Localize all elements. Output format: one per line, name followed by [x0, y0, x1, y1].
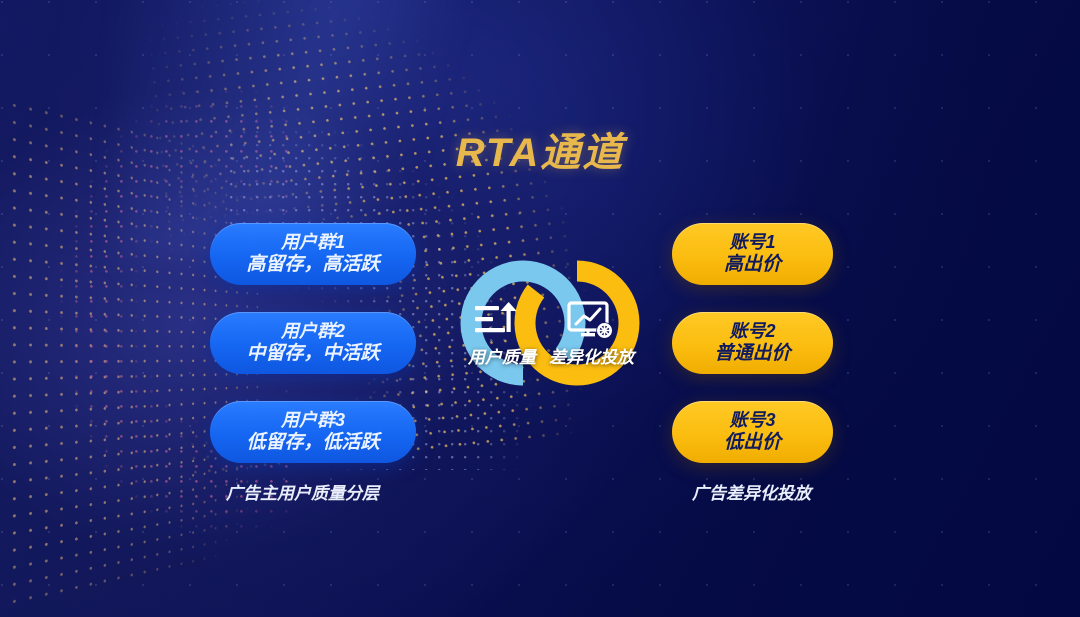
user-segment-pill-1[interactable]: 用户群1 高留存，高活跃 — [210, 223, 416, 285]
account-pill-2[interactable]: 账号2 普通出价 — [672, 312, 833, 374]
right-column-caption: 广告差异化投放 — [692, 479, 811, 504]
user-segment-pill-3-line2: 低留存，低活跃 — [246, 431, 379, 455]
user-segment-pill-1-line1: 用户群1 — [281, 231, 345, 254]
user-segment-pill-1-line2: 高留存，高活跃 — [246, 253, 379, 277]
monitor-chart-icon — [567, 300, 617, 342]
account-pill-1-line1: 账号1 — [729, 231, 775, 254]
slide-canvas: RTA通道 用户群1 高留存，高活跃 用户群2 中留存，中活跃 用户群3 低留存… — [0, 0, 1080, 617]
account-pill-3-line2: 低出价 — [724, 431, 781, 455]
user-segment-pill-3-line1: 用户群3 — [281, 409, 345, 432]
right-ring-label: 差异化投放 — [549, 343, 634, 368]
account-pill-2-line2: 普通出价 — [714, 342, 790, 366]
interlocking-rings-graphic — [425, 258, 675, 388]
account-pill-1-line2: 高出价 — [724, 253, 781, 277]
user-segment-pill-3[interactable]: 用户群3 低留存，低活跃 — [210, 401, 416, 463]
left-column-caption: 广告主用户质量分层 — [226, 479, 379, 504]
user-segment-pill-2[interactable]: 用户群2 中留存，中活跃 — [210, 312, 416, 374]
user-segment-pill-2-line1: 用户群2 — [281, 320, 345, 343]
user-segment-pill-2-line2: 中留存，中活跃 — [246, 342, 379, 366]
page-title: RTA通道 — [0, 120, 1080, 178]
account-pill-3[interactable]: 账号3 低出价 — [672, 401, 833, 463]
account-pill-2-line1: 账号2 — [729, 320, 775, 343]
account-pill-3-line1: 账号3 — [729, 409, 775, 432]
left-ring-label: 用户质量 — [468, 343, 536, 368]
account-pill-1[interactable]: 账号1 高出价 — [672, 223, 833, 285]
bar-chart-up-icon — [473, 300, 519, 340]
